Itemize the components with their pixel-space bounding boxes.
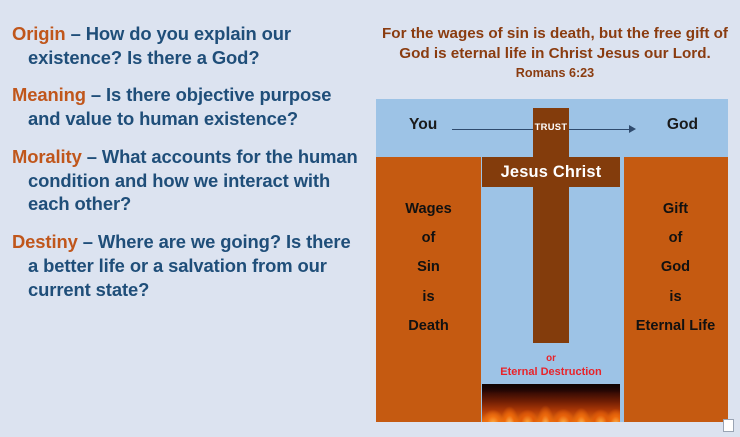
stack-word: Eternal Life <box>623 312 728 341</box>
question-item-meaning: Meaning – Is there objective purpose and… <box>6 83 358 130</box>
question-keyword: Destiny <box>12 231 78 252</box>
cross-horizontal-beam: Jesus Christ <box>482 157 620 187</box>
stack-word: of <box>623 224 728 253</box>
arrow-head-icon <box>629 125 636 133</box>
you-label: You <box>409 116 437 134</box>
question-dash: – <box>86 84 106 105</box>
destruction-text: Eternal Destruction <box>482 365 620 380</box>
scripture-block: For the wages of sin is death, but the f… <box>372 24 738 80</box>
question-item-morality: Morality – What accounts for the human c… <box>6 145 358 216</box>
stack-word: God <box>623 253 728 282</box>
god-label: God <box>667 116 698 134</box>
question-dash: – <box>66 23 86 44</box>
fire-flames <box>482 384 620 422</box>
stack-word: Death <box>376 312 481 341</box>
stack-word: is <box>623 283 728 312</box>
question-dash: – <box>82 146 102 167</box>
cross-label: Jesus Christ <box>501 163 602 182</box>
slide-canvas: Origin – How do you explain our existenc… <box>0 0 740 437</box>
fire-shade <box>482 384 620 393</box>
stack-word: Wages <box>376 195 481 224</box>
question-item-origin: Origin – How do you explain our existenc… <box>6 22 358 69</box>
arrow-segment-right <box>569 129 632 130</box>
question-item-destiny: Destiny – Where are we going? Is there a… <box>6 230 358 301</box>
destruction-or: or <box>482 352 620 365</box>
stack-word: is <box>376 283 481 312</box>
big-questions-list: Origin – How do you explain our existenc… <box>6 22 358 301</box>
scripture-reference: Romans 6:23 <box>372 66 738 80</box>
arrow-segment-left <box>452 129 533 130</box>
cross-chasm-diagram: or Eternal Destruction Jesus Christ You … <box>376 99 728 422</box>
stack-word: of <box>376 224 481 253</box>
trust-label: TRUST <box>533 121 569 132</box>
gift-of-god-stack: Gift of God is Eternal Life <box>623 195 728 341</box>
you-to-god-row: You TRUST God <box>376 99 728 157</box>
eternal-destruction-label: or Eternal Destruction <box>482 352 620 380</box>
question-dash: – <box>78 231 98 252</box>
question-keyword: Meaning <box>12 84 86 105</box>
question-keyword: Morality <box>12 146 82 167</box>
stack-word: Sin <box>376 253 481 282</box>
question-keyword: Origin <box>12 23 66 44</box>
selection-handle[interactable] <box>723 419 734 432</box>
stack-word: Gift <box>623 195 728 224</box>
wages-of-sin-stack: Wages of Sin is Death <box>376 195 481 341</box>
scripture-verse: For the wages of sin is death, but the f… <box>372 24 738 64</box>
